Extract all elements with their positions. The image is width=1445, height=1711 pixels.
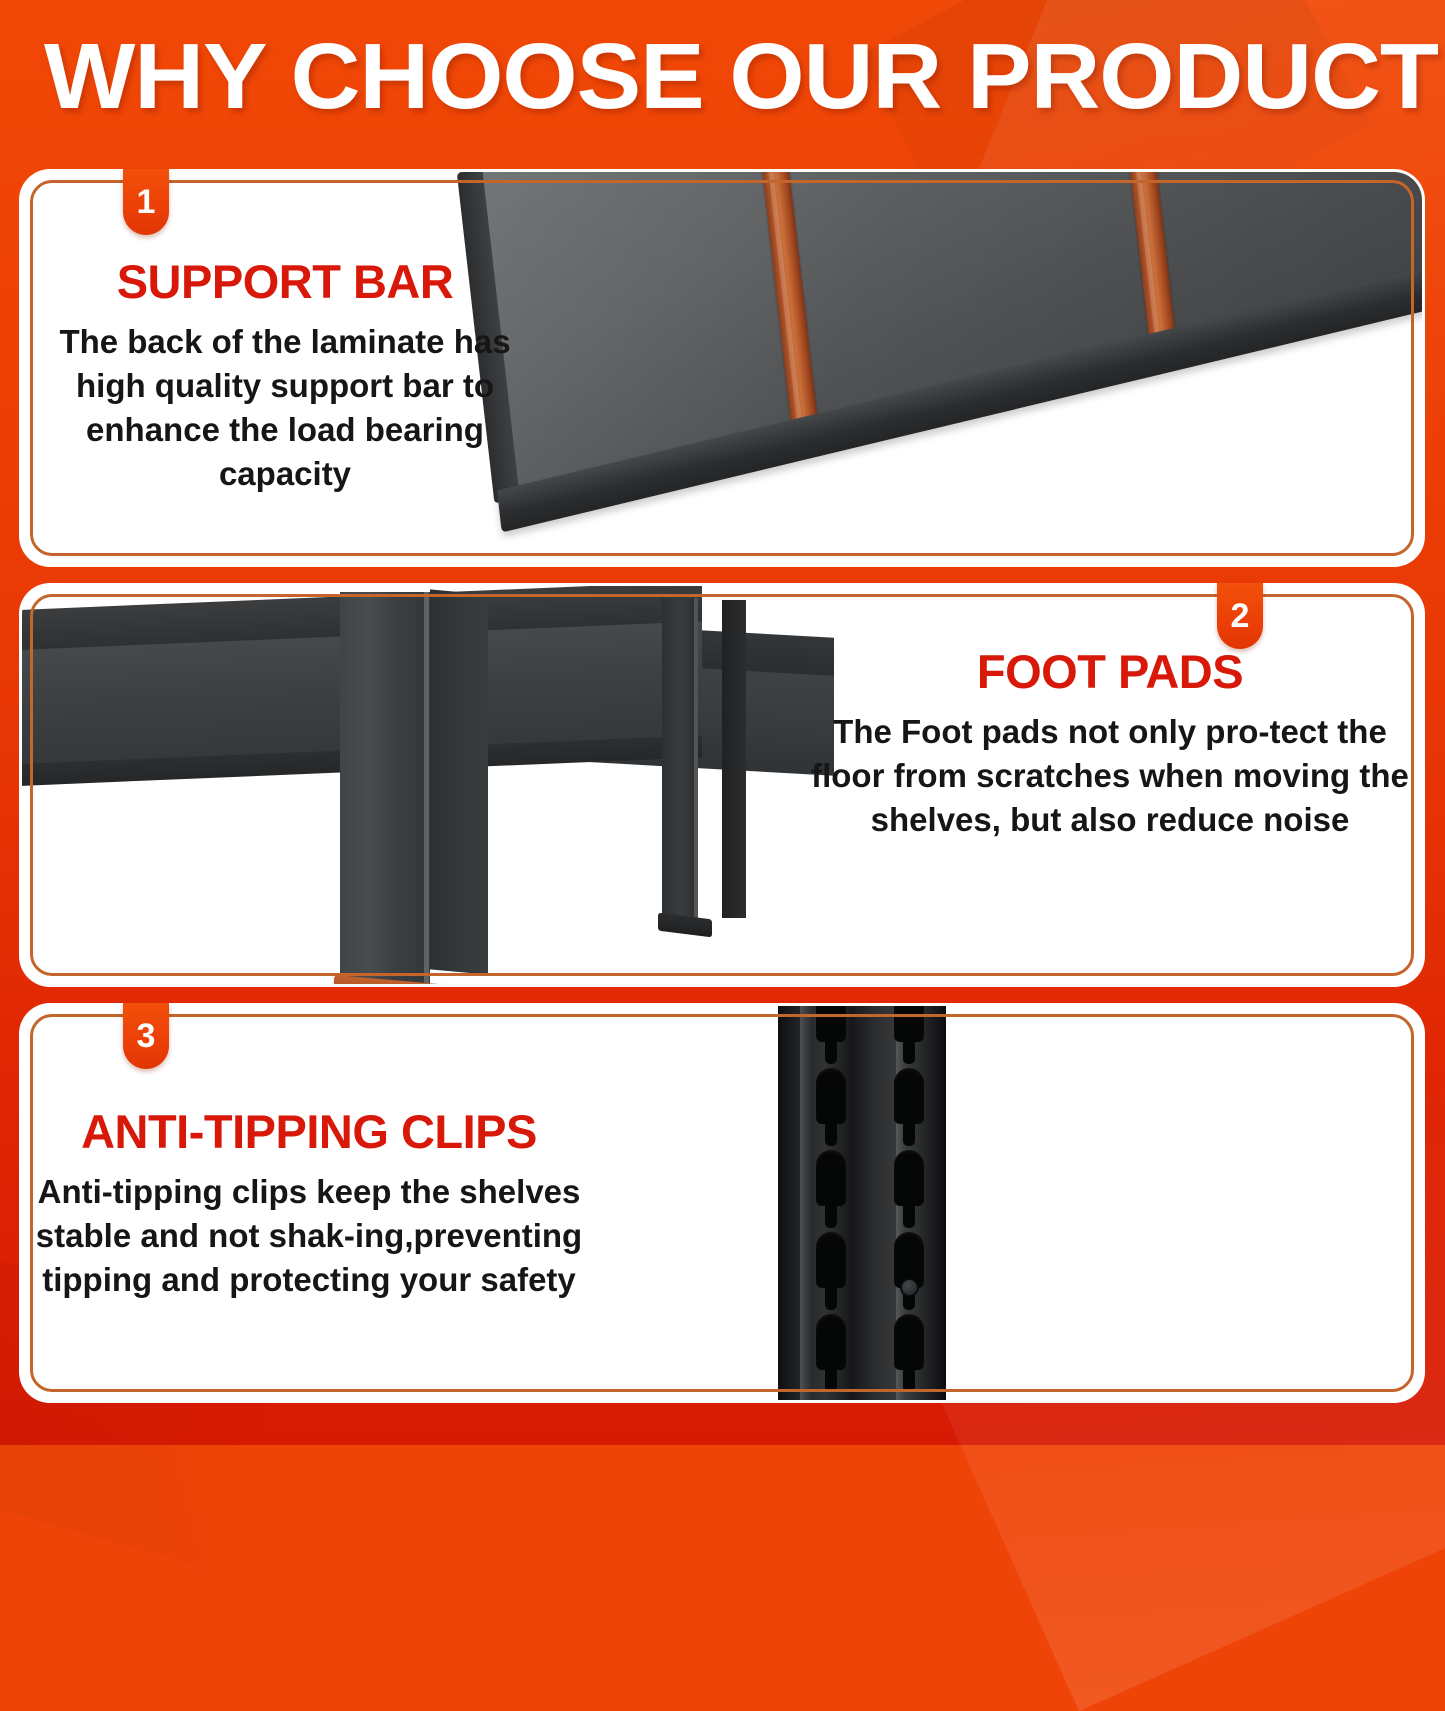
keyhole-slot [894, 1068, 924, 1124]
post-rivet [900, 1278, 919, 1297]
perforated-shelving-post [778, 1006, 946, 1400]
panel-3-body: Anti-tipping clips keep the shelves stab… [34, 1170, 584, 1302]
panel-3-heading: ANTI-TIPPING CLIPS [34, 1108, 584, 1156]
panel-2-text-block: FOOT PADS The Foot pads not only pro-tec… [800, 648, 1420, 842]
page-title-text: WHY CHOOSE OUR PRODUCT [44, 30, 1438, 123]
keyhole-slot [816, 1150, 846, 1206]
shelf-leg-front-highlight [424, 592, 429, 984]
panel-1-text-block: SUPPORT BAR The back of the laminate has… [40, 258, 530, 495]
keyhole-slot [816, 1068, 846, 1124]
page-title: WHY CHOOSE OUR PRODUCT [0, 0, 1445, 152]
post-gloss-left [800, 1006, 812, 1400]
shelf-leg-front-side-face [430, 589, 488, 974]
keyhole-slot [816, 1314, 846, 1370]
shelf-leg-far-right [722, 600, 746, 918]
keyhole-slot [816, 1232, 846, 1288]
keyhole-slot [894, 1314, 924, 1370]
keyhole-slot [816, 1006, 846, 1042]
panel-2-body: The Foot pads not only pro-tect the floo… [800, 710, 1420, 842]
panel-1-body: The back of the laminate has high qualit… [40, 320, 530, 496]
keyhole-slot [894, 1006, 924, 1042]
keyhole-slot [894, 1150, 924, 1206]
panel-3-text-block: ANTI-TIPPING CLIPS Anti-tipping clips ke… [34, 1108, 584, 1302]
panel-number-badge-3: 3 [123, 1003, 169, 1069]
shelf-panel-graphic [467, 172, 1422, 564]
foot-pad-rear [658, 913, 712, 938]
panel-number-badge-2: 2 [1217, 583, 1263, 649]
panel-2-heading: FOOT PADS [800, 648, 1420, 696]
shelf-leg-rear [662, 598, 698, 924]
panel-1-heading: SUPPORT BAR [40, 258, 530, 306]
shelf-leg-rear-highlight [694, 598, 698, 918]
shelf-leg-front [340, 592, 430, 984]
panel-number-badge-1: 1 [123, 169, 169, 235]
